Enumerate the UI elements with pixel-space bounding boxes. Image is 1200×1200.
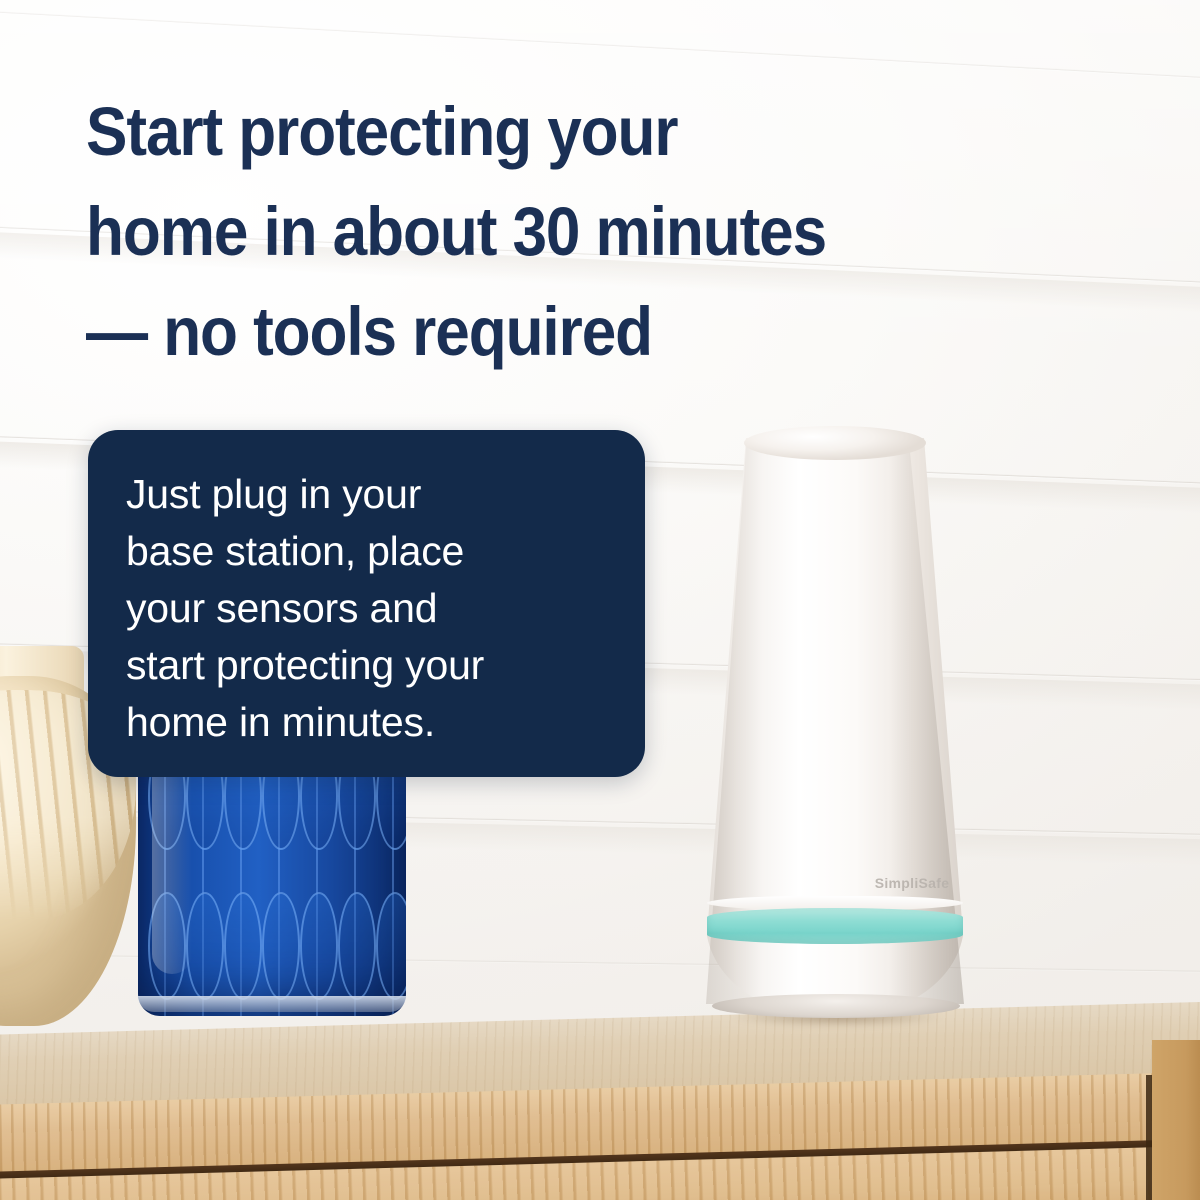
nightstand-side-panel [1152,1040,1200,1200]
blue-vase-base-rim [138,996,406,1012]
vase-relief-lens [376,892,406,1000]
base-station-top-cap [744,426,926,460]
callout-body-text: Just plug in your base station, place yo… [126,466,626,751]
vase-relief-lens [338,892,376,1000]
vase-relief-lens [262,892,300,1000]
simplisafe-logo: SimpliSafe [862,875,962,891]
vase-relief-lens [224,892,262,1000]
vase-relief-lens [300,892,338,1000]
page-title: Start protecting your home in about 30 m… [86,82,1022,382]
base-station-foot [712,994,960,1018]
base-station-teal-light-band [707,908,963,944]
marketing-image: SimpliSafe Start protecting your home in… [0,0,1200,1200]
